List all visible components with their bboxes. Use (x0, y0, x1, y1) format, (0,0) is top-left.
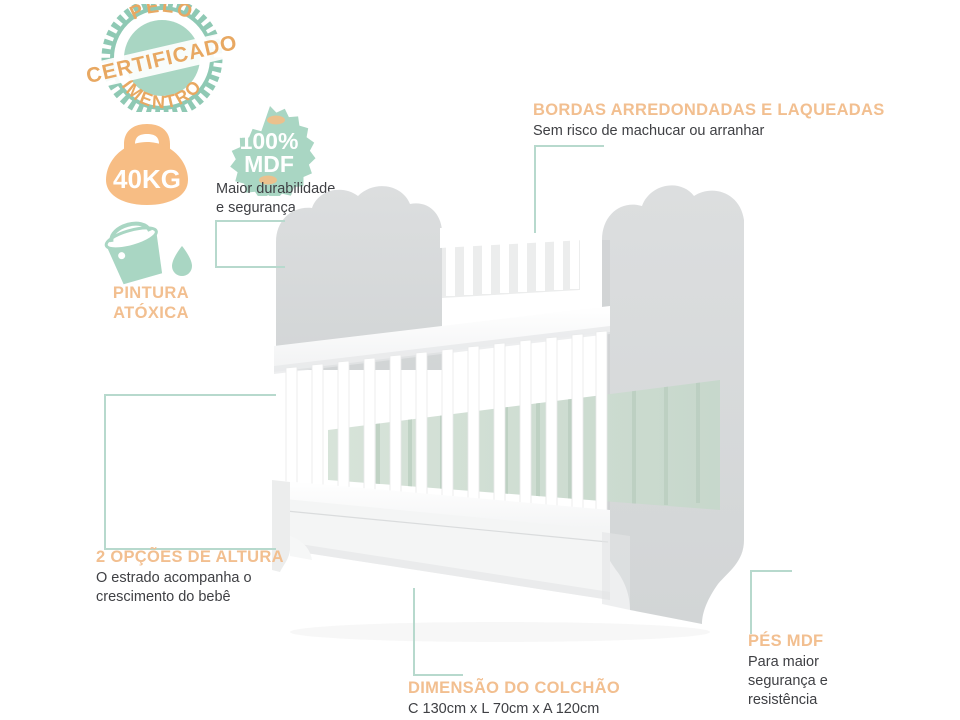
callout-pes-subtitle-line1: Para maior (748, 653, 828, 672)
certificate-seal-icon: PELO IMENTRO CERTIFICADO (72, 4, 252, 112)
callout-pes-subtitle-line2: segurança e (748, 672, 828, 691)
callout-pes-title: PÉS MDF (748, 632, 828, 651)
kettlebell-label: 40KG (113, 164, 181, 194)
paint-label: PINTURA ATÓXICA (86, 284, 216, 324)
connector-altura (104, 394, 276, 550)
callout-colchao-subtitle: C 130cm x L 70cm x A 120cm (408, 700, 620, 719)
callout-bordas-title: BORDAS ARREDONDADAS E LAQUEADAS (533, 101, 885, 120)
callout-altura-subtitle-line2: crescimento do bebê (96, 588, 284, 607)
callout-pes: PÉS MDF Para maior segurança e resistênc… (748, 632, 828, 710)
paint-bucket-icon (92, 216, 204, 288)
callout-altura-title: 2 OPÇÕES DE ALTURA (96, 548, 284, 567)
callout-colchao: DIMENSÃO DO COLCHÃO C 130cm x L 70cm x A… (408, 679, 620, 719)
connector-bordas (534, 145, 604, 233)
paint-label-line2: ATÓXICA (86, 304, 216, 324)
callout-altura: 2 OPÇÕES DE ALTURA O estrado acompanha o… (96, 548, 284, 607)
connector-colchao (413, 588, 463, 676)
connector-pes (750, 570, 792, 634)
callout-pes-subtitle-line3: resistência (748, 691, 828, 710)
callout-altura-subtitle-line1: O estrado acompanha o (96, 569, 284, 588)
connector-mdf (215, 220, 285, 268)
callout-pes-subtitle: Para maior segurança e resistência (748, 653, 828, 710)
kettlebell-icon: 40KG (88, 112, 206, 208)
paint-label-line1: PINTURA (86, 284, 216, 304)
crib-illustration (250, 180, 790, 670)
crib-right-leg (602, 532, 630, 610)
mdf-line2: MDF (244, 151, 294, 177)
callout-colchao-title: DIMENSÃO DO COLCHÃO (408, 679, 620, 698)
callout-altura-subtitle: O estrado acompanha o crescimento do beb… (96, 569, 284, 607)
infographic-stage: PELO IMENTRO CERTIFICADO 40KG (0, 0, 960, 720)
callout-bordas: BORDAS ARREDONDADAS E LAQUEADAS Sem risc… (533, 101, 885, 141)
callout-bordas-subtitle: Sem risco de machucar ou arranhar (533, 122, 885, 141)
